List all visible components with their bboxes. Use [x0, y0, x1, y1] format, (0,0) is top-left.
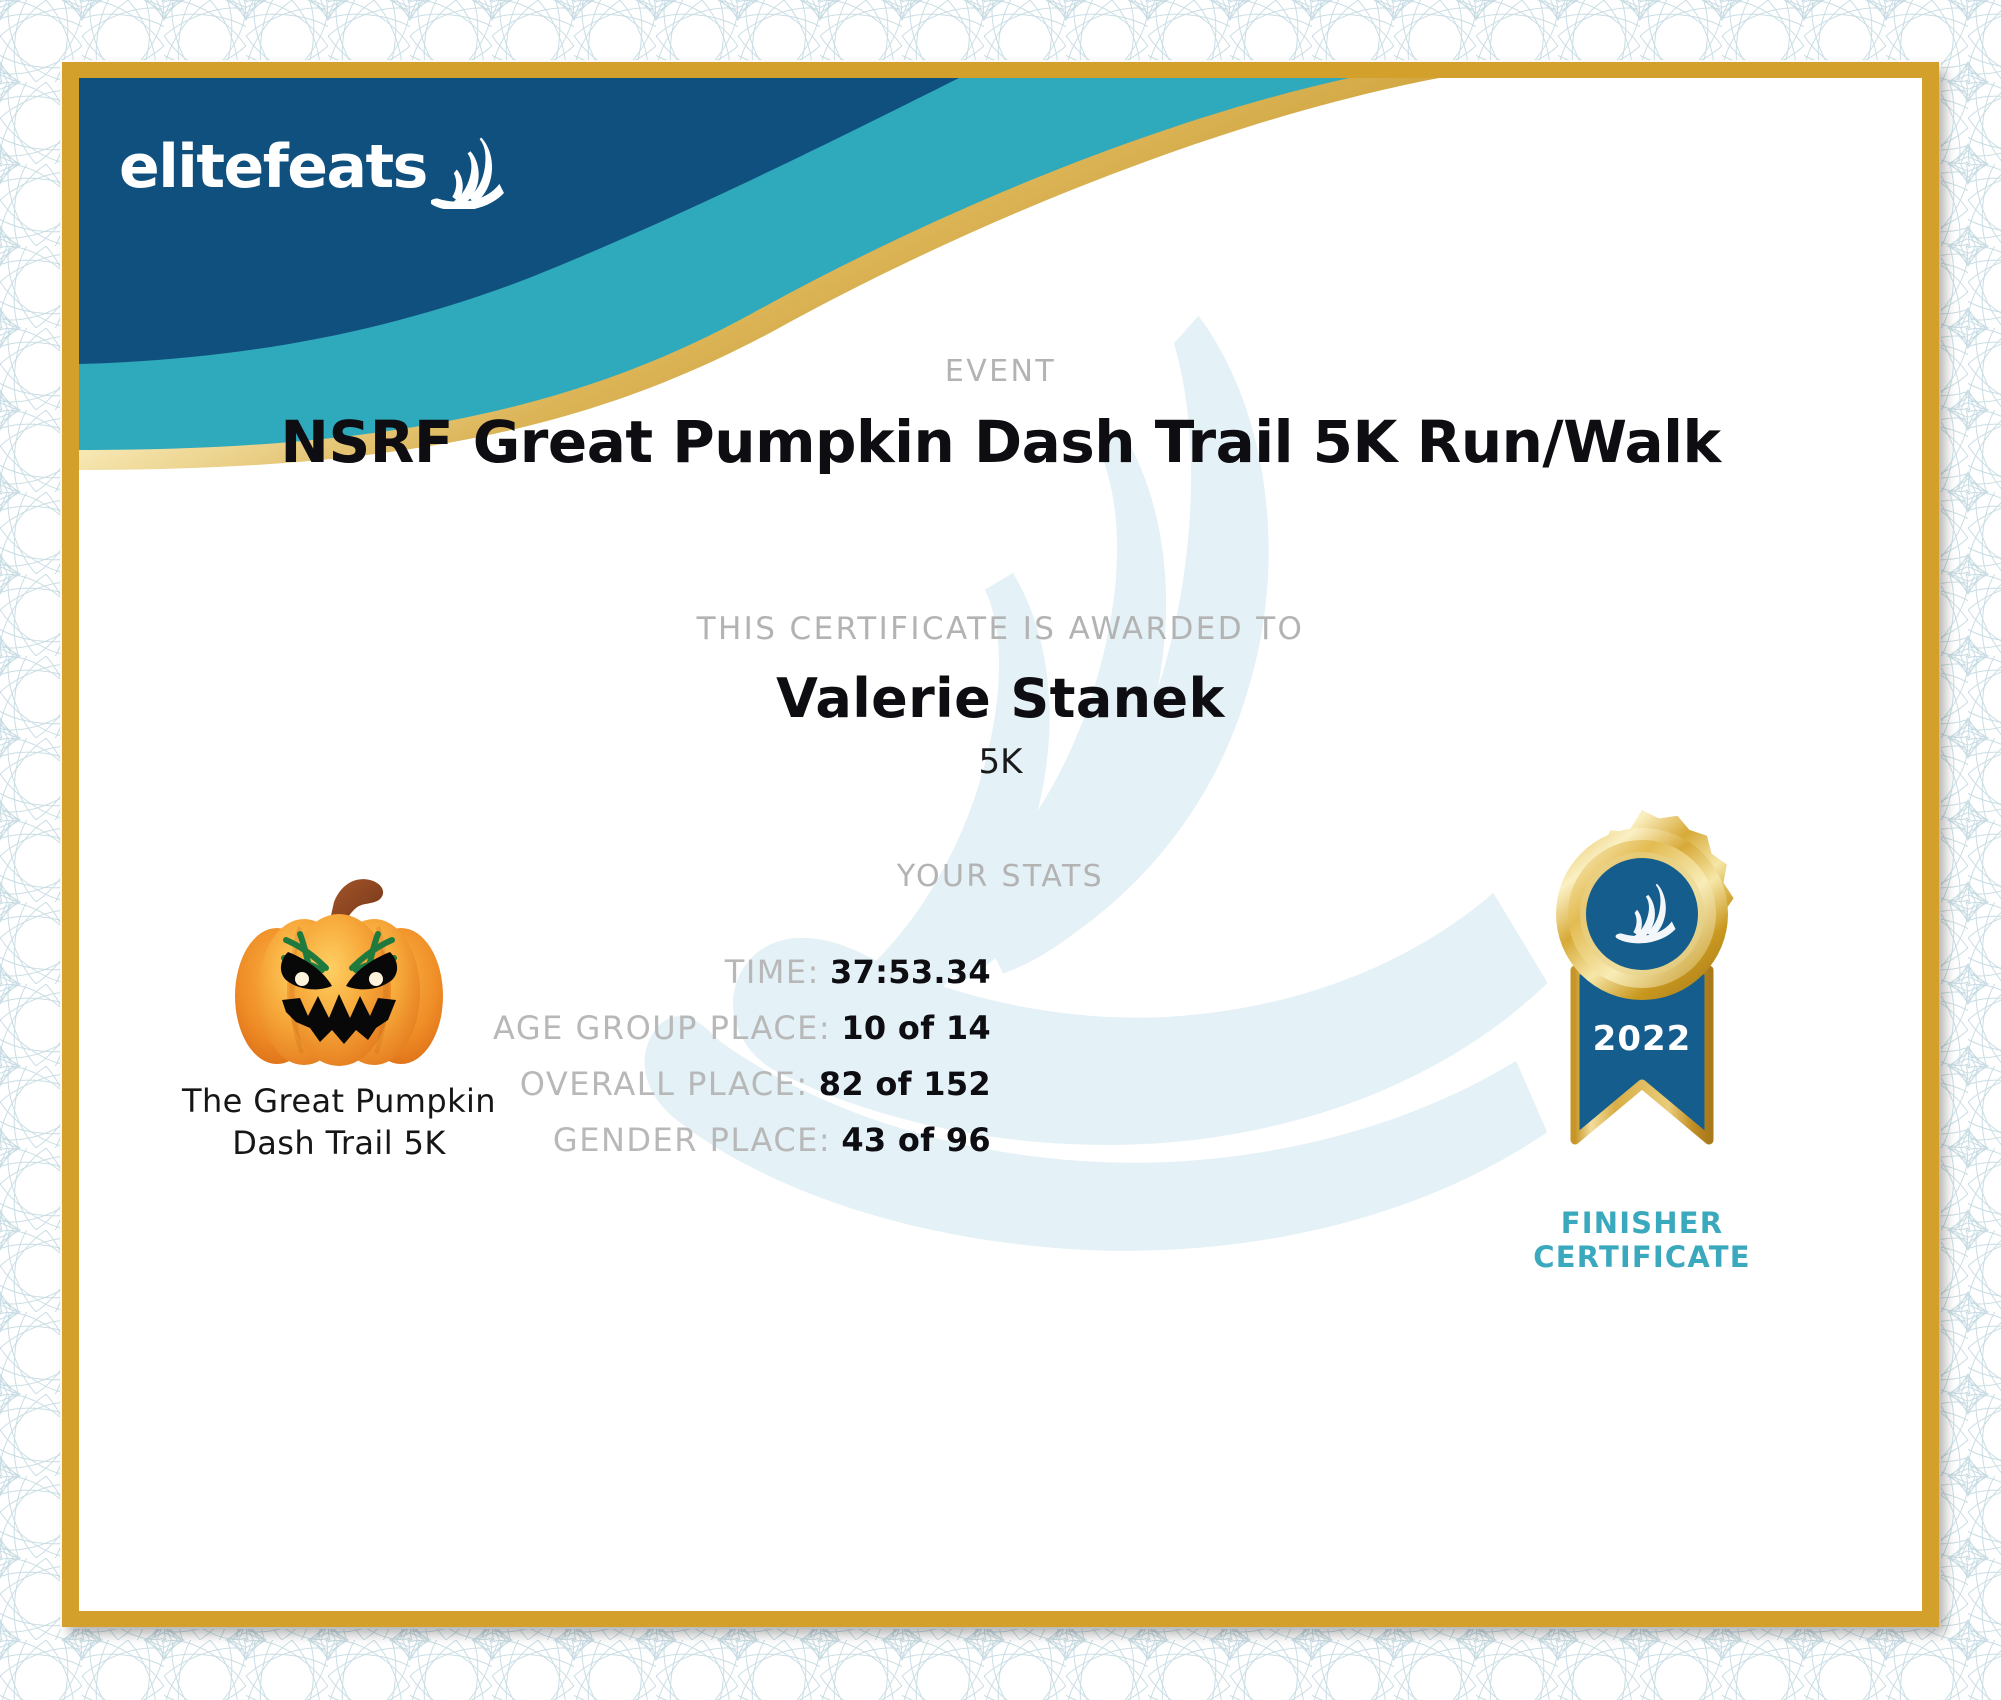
finisher-caption-line1: FINISHER [1497, 1206, 1787, 1240]
stat-label: GENDER PLACE: [553, 1121, 831, 1159]
stat-value: 82 of 152 [819, 1065, 991, 1103]
recipient-name: Valerie Stanek [79, 667, 1922, 730]
stat-label: OVERALL PLACE: [520, 1065, 809, 1103]
finisher-caption-line2: CERTIFICATE [1497, 1240, 1787, 1274]
jack-o-lantern-icon [230, 868, 448, 1074]
event-logo-line2: Dash Trail 5K [174, 1122, 504, 1164]
event-section-label: EVENT [79, 354, 1922, 389]
certificate-inner-canvas: elitefeats EVENT NSRF Great Pumpkin Dash… [79, 78, 1922, 1611]
event-logo-line1: The Great Pumpkin [174, 1080, 504, 1122]
certificate-page: elitefeats EVENT NSRF Great Pumpkin Dash… [0, 0, 2001, 1700]
stat-label: TIME: [725, 953, 820, 991]
finisher-caption: FINISHER CERTIFICATE [1497, 1206, 1787, 1274]
finisher-badge: 2022 FINISHER CERTIFICATE [1497, 802, 1787, 1274]
gold-medal-rosette-icon: 2022 [1517, 802, 1767, 1202]
recipient-distance: 5K [79, 742, 1922, 782]
stat-value: 10 of 14 [841, 1009, 991, 1047]
awarded-to-label: THIS CERTIFICATE IS AWARDED TO [79, 611, 1922, 647]
certificate-content: EVENT NSRF Great Pumpkin Dash Trail 5K R… [79, 78, 1922, 1611]
event-title: NSRF Great Pumpkin Dash Trail 5K Run/Wal… [79, 408, 1922, 476]
stat-value: 37:53.34 [830, 953, 991, 991]
stat-label: AGE GROUP PLACE: [493, 1009, 831, 1047]
badge-year: 2022 [1593, 1019, 1692, 1059]
event-logo-text: The Great Pumpkin Dash Trail 5K [174, 1080, 504, 1164]
stat-value: 43 of 96 [841, 1121, 991, 1159]
gold-frame-border: elitefeats EVENT NSRF Great Pumpkin Dash… [62, 62, 1939, 1627]
event-logo: The Great Pumpkin Dash Trail 5K [174, 868, 504, 1164]
